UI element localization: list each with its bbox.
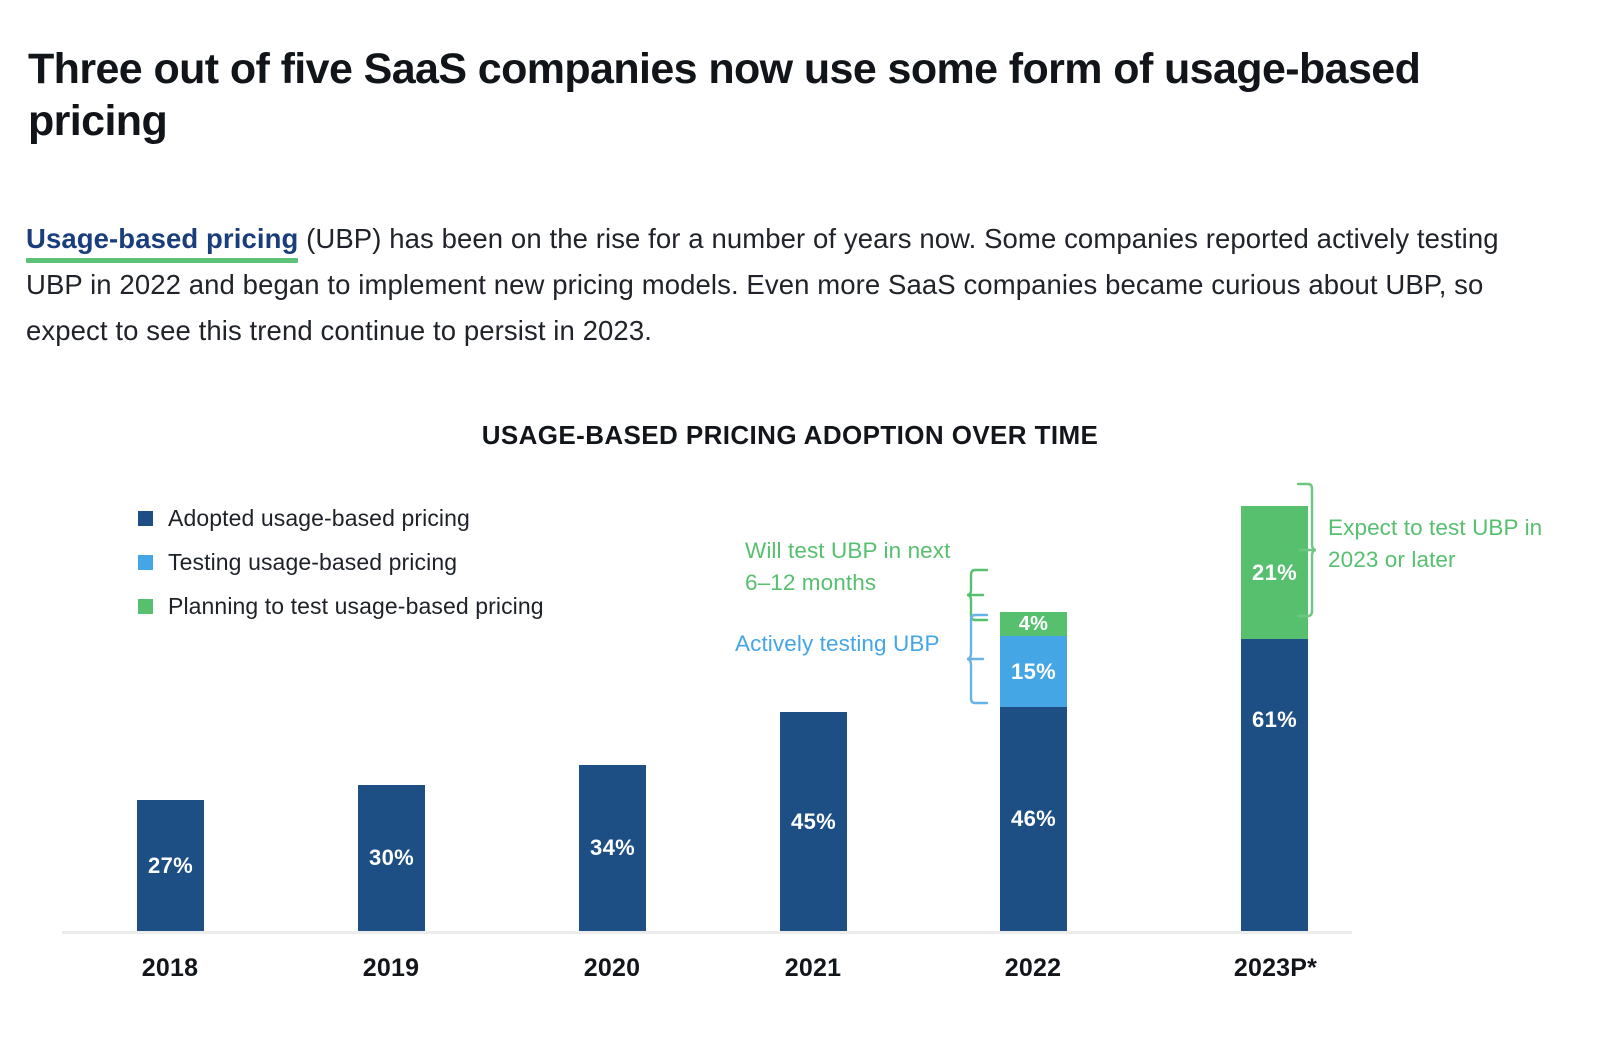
annotation-line-2: 6–12 months (745, 567, 960, 599)
bar-group-2021[interactable]: 45% (780, 712, 847, 931)
bar-segment-adopted[interactable]: 34% (579, 765, 646, 931)
x-axis-label-2020: 2020 (542, 954, 682, 983)
annotation-will-test-ubp: Will test UBP in next 6–12 months (745, 535, 960, 599)
plot-area: 27% 2018 30% 2019 34% 2020 45% 2021 (0, 400, 1600, 1037)
x-axis-label-2023p: 2023P* (1178, 954, 1373, 983)
x-axis-label-2019: 2019 (321, 954, 461, 983)
bar-value-label: 34% (590, 835, 635, 861)
page-headline: Three out of five SaaS companies now use… (28, 43, 1528, 148)
x-axis-label-2021: 2021 (743, 954, 883, 983)
bar-group-2022[interactable]: 46% 15% 4% (1000, 612, 1067, 931)
bar-value-label: 61% (1252, 707, 1297, 733)
annotation-line-1: Actively testing UBP (735, 628, 965, 660)
x-axis-label-2018: 2018 (100, 954, 240, 983)
bar-group-2019[interactable]: 30% (358, 785, 425, 931)
chart-container: USAGE-BASED PRICING ADOPTION OVER TIME A… (0, 400, 1600, 1037)
usage-based-pricing-link[interactable]: Usage-based pricing (26, 223, 298, 254)
brace-planning-2023-icon (1296, 482, 1330, 618)
annotation-line-1: Will test UBP in next (745, 535, 960, 567)
intro-paragraph: Usage-based pricing (UBP) has been on th… (26, 216, 1542, 354)
bar-segment-adopted[interactable]: 61% (1241, 639, 1308, 931)
brace-testing-2022-icon (963, 613, 997, 705)
bar-value-label: 46% (1011, 806, 1056, 832)
annotation-line-2: 2023 or later (1328, 544, 1578, 576)
bar-segment-adopted[interactable]: 45% (780, 712, 847, 931)
bar-value-label: 15% (1011, 659, 1056, 685)
bar-value-label: 30% (369, 845, 414, 871)
x-axis-label-2022: 2022 (963, 954, 1103, 983)
bar-segment-testing[interactable]: 15% (1000, 636, 1067, 707)
bar-value-label: 21% (1252, 560, 1297, 586)
bar-segment-adopted[interactable]: 30% (358, 785, 425, 931)
annotation-line-1: Expect to test UBP in (1328, 512, 1578, 544)
bar-segment-adopted[interactable]: 27% (137, 800, 204, 931)
x-axis-line (62, 931, 1352, 934)
bar-group-2020[interactable]: 34% (579, 765, 646, 931)
bar-value-label: 27% (148, 853, 193, 879)
bar-segment-planning[interactable]: 4% (1000, 612, 1067, 636)
annotation-actively-testing-ubp: Actively testing UBP (735, 628, 965, 660)
bar-group-2018[interactable]: 27% (137, 800, 204, 931)
bar-value-label: 45% (791, 809, 836, 835)
bar-segment-adopted[interactable]: 46% (1000, 707, 1067, 931)
annotation-expect-to-test-ubp: Expect to test UBP in 2023 or later (1328, 512, 1578, 576)
bar-value-label: 4% (1019, 613, 1049, 636)
